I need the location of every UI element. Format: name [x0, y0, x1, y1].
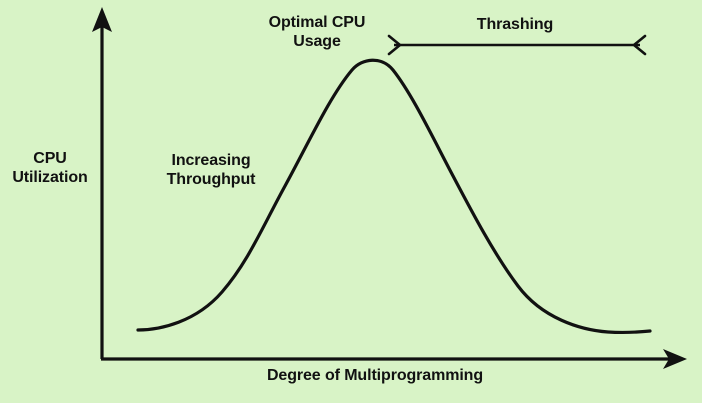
- x-axis-label: Degree of Multiprogramming: [190, 367, 560, 386]
- y-axis-label-line1: CPU: [0, 150, 100, 169]
- annotation-increasing-throughput-line2: Throughput: [145, 171, 277, 190]
- diagram-canvas: [0, 0, 702, 403]
- y-axis-label: CPU Utilization: [0, 150, 100, 188]
- cpu-utilization-curve: [138, 60, 650, 332]
- x-axis-label-text: Degree of Multiprogramming: [190, 367, 560, 386]
- thrashing-bracket: [389, 36, 645, 54]
- annotation-optimal-cpu-usage-line2: Usage: [252, 33, 382, 52]
- annotation-thrashing-text: Thrashing: [452, 16, 578, 35]
- annotation-optimal-cpu-usage: Optimal CPU Usage: [252, 14, 382, 52]
- y-axis-label-line2: Utilization: [0, 169, 100, 188]
- annotation-optimal-cpu-usage-line1: Optimal CPU: [252, 14, 382, 33]
- annotation-increasing-throughput: Increasing Throughput: [145, 152, 277, 190]
- annotation-thrashing: Thrashing: [452, 16, 578, 35]
- annotation-increasing-throughput-line1: Increasing: [145, 152, 277, 171]
- cpu-utilization-thrashing-diagram: CPU Utilization Increasing Throughput Op…: [0, 0, 702, 403]
- x-axis: [101, 349, 687, 369]
